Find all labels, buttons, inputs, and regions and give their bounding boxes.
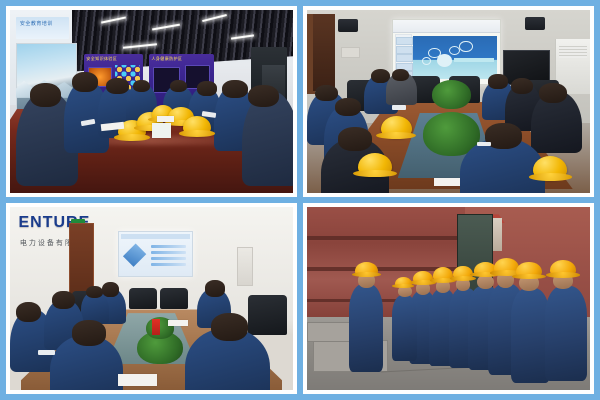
slide-thumbnail bbox=[396, 37, 413, 45]
photo-top-left: 安全教育培训 安全知识体验区 人身健康防护区 bbox=[10, 10, 293, 193]
slide-thumbnail bbox=[396, 54, 413, 62]
gear-icon bbox=[449, 46, 460, 55]
supervisor bbox=[349, 284, 383, 372]
hard-hat bbox=[550, 260, 575, 276]
door bbox=[313, 14, 336, 91]
wall-speaker bbox=[525, 17, 545, 30]
wall-plaque bbox=[341, 47, 360, 58]
gear-icon bbox=[459, 41, 473, 53]
wall-speaker bbox=[338, 19, 358, 32]
attendee-head bbox=[106, 78, 129, 94]
mobile-phone bbox=[477, 142, 491, 147]
attendee-head bbox=[211, 313, 248, 340]
hard-hat bbox=[183, 116, 211, 136]
slide-list-row bbox=[151, 251, 186, 254]
hard-hat bbox=[413, 271, 433, 284]
wall-seam bbox=[307, 236, 465, 240]
attendee-head bbox=[16, 302, 41, 322]
attendee-head bbox=[72, 320, 106, 346]
attendee-head bbox=[52, 291, 75, 309]
wall-sign-panel bbox=[16, 17, 70, 39]
notebook bbox=[118, 374, 158, 387]
desk-flag bbox=[152, 319, 160, 335]
hard-hat bbox=[433, 267, 453, 282]
attendee-head bbox=[338, 127, 372, 151]
projection-screen bbox=[118, 231, 194, 277]
tissue-box bbox=[152, 123, 172, 138]
slide-list-row bbox=[151, 263, 186, 266]
attendee-head bbox=[248, 85, 279, 107]
attendee-head bbox=[511, 78, 534, 94]
presenter-head bbox=[205, 280, 225, 296]
photo-bottom-left: ENTURE 电力设备有限公司 bbox=[10, 207, 293, 390]
attendee-head bbox=[197, 81, 217, 96]
attendee-head bbox=[539, 83, 567, 103]
attendee-head bbox=[30, 83, 61, 107]
attendee-head bbox=[222, 80, 247, 98]
photo-cell-top-left: 安全教育培训 安全知识体验区 人身健康防护区 bbox=[6, 6, 297, 197]
photo-bottom-right bbox=[307, 207, 590, 390]
attendee-head bbox=[102, 282, 119, 297]
document bbox=[157, 116, 174, 121]
slide-thumbnail bbox=[396, 46, 413, 54]
powerpoint-toolbar bbox=[393, 20, 501, 33]
hard-hat bbox=[355, 262, 378, 277]
current-slide bbox=[413, 36, 497, 80]
mobile-phone bbox=[392, 105, 406, 110]
photo-cell-top-right bbox=[303, 6, 594, 197]
photo-collage: 安全教育培训 安全知识体验区 人身健康防护区 bbox=[0, 0, 600, 400]
attendee-head bbox=[315, 85, 338, 101]
hard-hat bbox=[494, 258, 519, 274]
worker bbox=[545, 286, 587, 381]
worker bbox=[392, 295, 417, 361]
wall-cabinet bbox=[237, 247, 253, 286]
hard-hat bbox=[395, 277, 412, 288]
attendee-head bbox=[170, 80, 187, 93]
gear-icon bbox=[437, 54, 452, 67]
office-chair bbox=[129, 288, 157, 310]
hard-hat bbox=[358, 153, 392, 177]
photo-top-right bbox=[307, 10, 590, 193]
attendee-head bbox=[392, 69, 409, 82]
slide-title-bar bbox=[121, 234, 190, 238]
photo-cell-bottom-right bbox=[303, 203, 594, 394]
office-chair bbox=[248, 295, 288, 335]
hard-hat bbox=[533, 156, 567, 180]
attendee-head bbox=[133, 80, 150, 93]
mobile-phone bbox=[38, 350, 55, 355]
slide-list-row bbox=[151, 245, 186, 248]
document bbox=[168, 320, 188, 325]
attendee-head head-skin bbox=[488, 74, 508, 89]
office-chair bbox=[160, 288, 188, 310]
potted-plant bbox=[432, 80, 472, 109]
hard-hat bbox=[516, 262, 541, 278]
slide-title-bar bbox=[454, 58, 494, 61]
photo-cell-bottom-left: ENTURE 电力设备有限公司 bbox=[6, 203, 297, 394]
hard-hat bbox=[381, 116, 412, 138]
attendee-head bbox=[72, 72, 97, 92]
slide-list-row bbox=[151, 257, 186, 260]
gear-icon bbox=[422, 57, 432, 65]
attendee-head bbox=[335, 98, 360, 116]
slide-diamond-graphic bbox=[123, 243, 146, 266]
